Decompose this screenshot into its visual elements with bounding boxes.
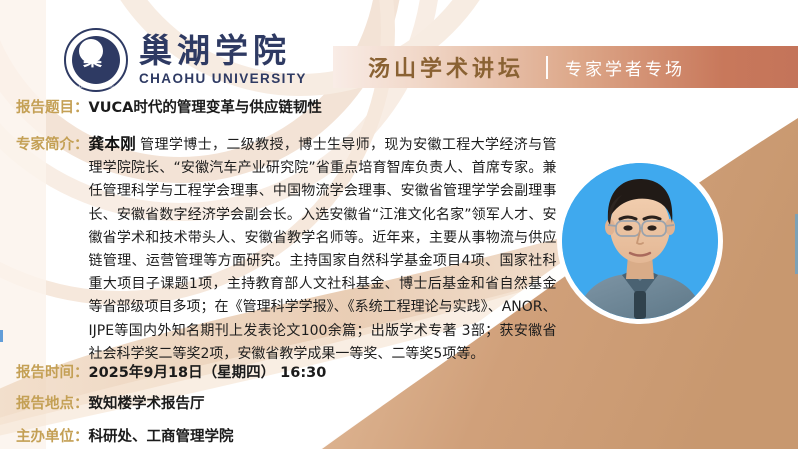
host-org-row: 主办单位： 科研处、工商管理学院 bbox=[16, 425, 234, 446]
speaker-portrait bbox=[562, 163, 718, 319]
talk-place-label: 报告地点： bbox=[16, 392, 89, 413]
talk-place-value: 致知楼学术报告厅 bbox=[89, 392, 205, 413]
talk-title-row: 报告题目： VUCA时代的管理变革与供应链韧性 bbox=[16, 96, 322, 117]
speaker-bio-row: 专家简介： 龚本刚管理学博士，二级教授，博士生导师，现为安徽工程大学经济与管理学… bbox=[16, 133, 557, 366]
host-org-value: 科研处、工商管理学院 bbox=[89, 425, 234, 446]
talk-title-label: 报告题目： bbox=[16, 96, 89, 117]
talk-place-row: 报告地点： 致知楼学术报告厅 bbox=[16, 392, 205, 413]
talk-time-value: 2025年9月18日（星期四） 16:30 bbox=[89, 361, 327, 382]
host-org-label: 主办单位： bbox=[16, 425, 89, 446]
speaker-bio-paragraph: 管理学博士，二级教授，博士生导师，现为安徽工程大学经济与管理学院院长、“安徽汽车… bbox=[89, 137, 557, 362]
talk-time-row: 报告时间： 2025年9月18日（星期四） 16:30 bbox=[16, 361, 326, 382]
speaker-bio-label: 专家简介： bbox=[16, 133, 89, 154]
speaker-bio-text: 龚本刚管理学博士，二级教授，博士生导师，现为安徽工程大学经济与管理学院院长、“安… bbox=[89, 133, 557, 366]
speaker-name: 龚本刚 bbox=[89, 135, 137, 153]
talk-time-label: 报告时间： bbox=[16, 361, 89, 382]
talk-title-value: VUCA时代的管理变革与供应链韧性 bbox=[89, 96, 322, 117]
seminar-poster: 巢 CHAOHU UNIVERSITY 巢湖学院 CHAOHU UNIVERSI… bbox=[0, 0, 798, 449]
speaker-portrait-image bbox=[562, 163, 718, 319]
